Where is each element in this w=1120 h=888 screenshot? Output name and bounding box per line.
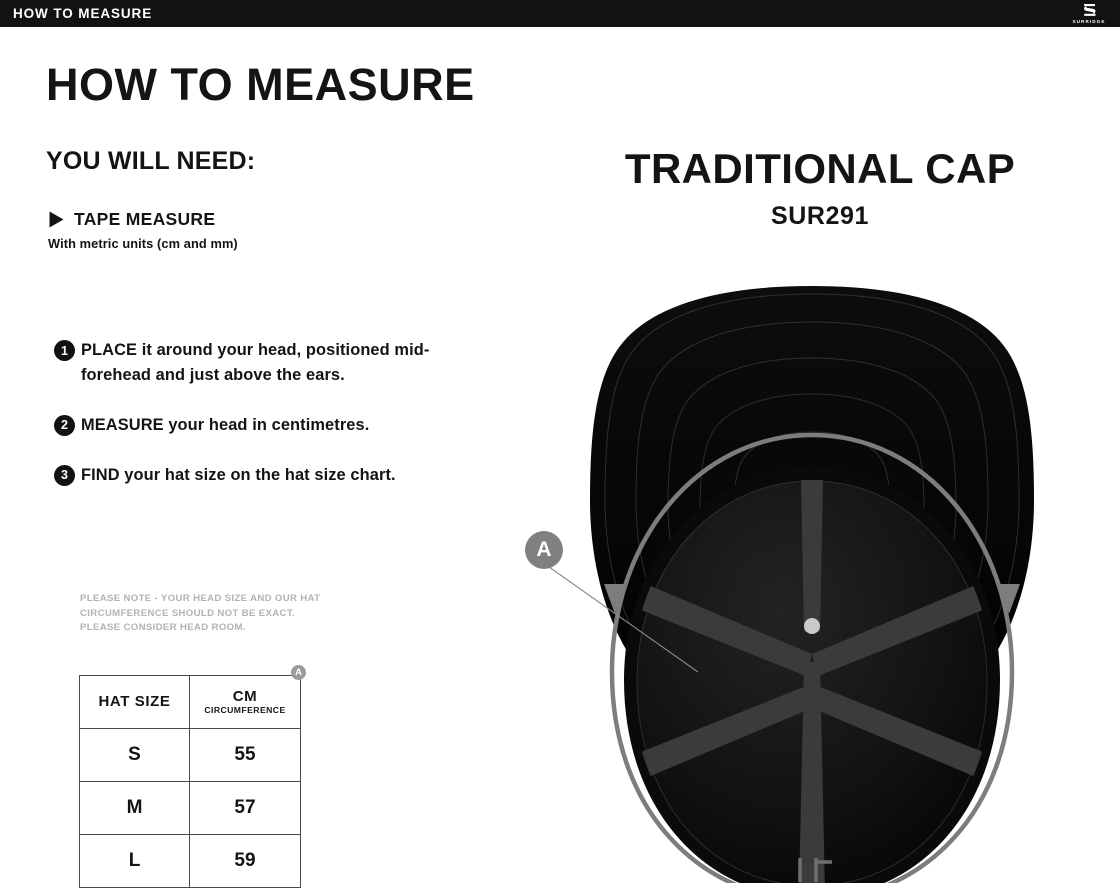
cap-diagram-svg: [500, 262, 1120, 883]
tool-item-tape-measure: TAPE MEASURE: [48, 209, 215, 230]
step-text: PLACE it around your head, positioned mi…: [81, 338, 454, 388]
column-header-label: CM: [233, 688, 258, 705]
instruction-steps-list: 1 PLACE it around your head, positioned …: [54, 338, 454, 513]
cap-top-view-diagram: [500, 262, 1120, 883]
column-header-cm: CM CIRCUMFERENCE A: [190, 676, 301, 729]
page-title: HOW TO MEASURE: [46, 62, 475, 107]
column-header-sublabel: CIRCUMFERENCE: [204, 705, 285, 715]
step-number-badge: 3: [54, 465, 75, 486]
cell-cm: 55: [190, 729, 301, 782]
app-header-bar: HOW TO MEASURE SURRIDGE: [0, 0, 1120, 27]
step-text: MEASURE your head in centimetres.: [81, 413, 369, 438]
table-row: S 55: [80, 729, 301, 782]
tool-label: TAPE MEASURE: [74, 209, 215, 230]
measurement-marker-a: A: [525, 531, 563, 569]
note-line: CIRCUMFERENCE SHOULD NOT BE EXACT.: [80, 607, 320, 622]
crown-button-icon: [804, 618, 820, 634]
cap-crown: [624, 467, 1000, 883]
cell-hat-size: L: [80, 835, 190, 888]
column-header-hat-size: HAT SIZE: [80, 676, 190, 729]
table-row: L 59: [80, 835, 301, 888]
list-item: 3 FIND your hat size on the hat size cha…: [54, 463, 454, 488]
cell-cm: 59: [190, 835, 301, 888]
table-header-row: HAT SIZE CM CIRCUMFERENCE A: [80, 676, 301, 729]
column-header-label: HAT SIZE: [98, 693, 170, 710]
cell-hat-size: M: [80, 782, 190, 835]
you-will-need-heading: YOU WILL NEED:: [46, 147, 255, 176]
step-number-badge: 2: [54, 415, 75, 436]
triangle-right-icon: [48, 210, 65, 229]
surridge-s-logo-icon: [1081, 2, 1098, 19]
note-line: PLEASE NOTE - YOUR HEAD SIZE AND OUR HAT: [80, 592, 320, 607]
product-code: SUR291: [520, 202, 1120, 231]
measurement-ref-badge: A: [291, 665, 306, 680]
list-item: 1 PLACE it around your head, positioned …: [54, 338, 454, 388]
list-item: 2 MEASURE your head in centimetres.: [54, 413, 454, 438]
product-title: TRADITIONAL CAP: [520, 148, 1120, 190]
cell-cm: 57: [190, 782, 301, 835]
brand-logo: SURRIDGE: [1066, 1, 1112, 26]
header-title: HOW TO MEASURE: [13, 6, 152, 21]
disclaimer-note: PLEASE NOTE - YOUR HEAD SIZE AND OUR HAT…: [80, 592, 320, 636]
tool-sublabel: With metric units (cm and mm): [48, 236, 238, 251]
table-row: M 57: [80, 782, 301, 835]
step-text: FIND your hat size on the hat size chart…: [81, 463, 396, 488]
cell-hat-size: S: [80, 729, 190, 782]
step-number-badge: 1: [54, 340, 75, 361]
note-line: PLEASE CONSIDER HEAD ROOM.: [80, 621, 320, 636]
brand-name: SURRIDGE: [1072, 20, 1105, 25]
hat-size-chart-table: HAT SIZE CM CIRCUMFERENCE A S 55 M 57 L …: [79, 675, 301, 888]
